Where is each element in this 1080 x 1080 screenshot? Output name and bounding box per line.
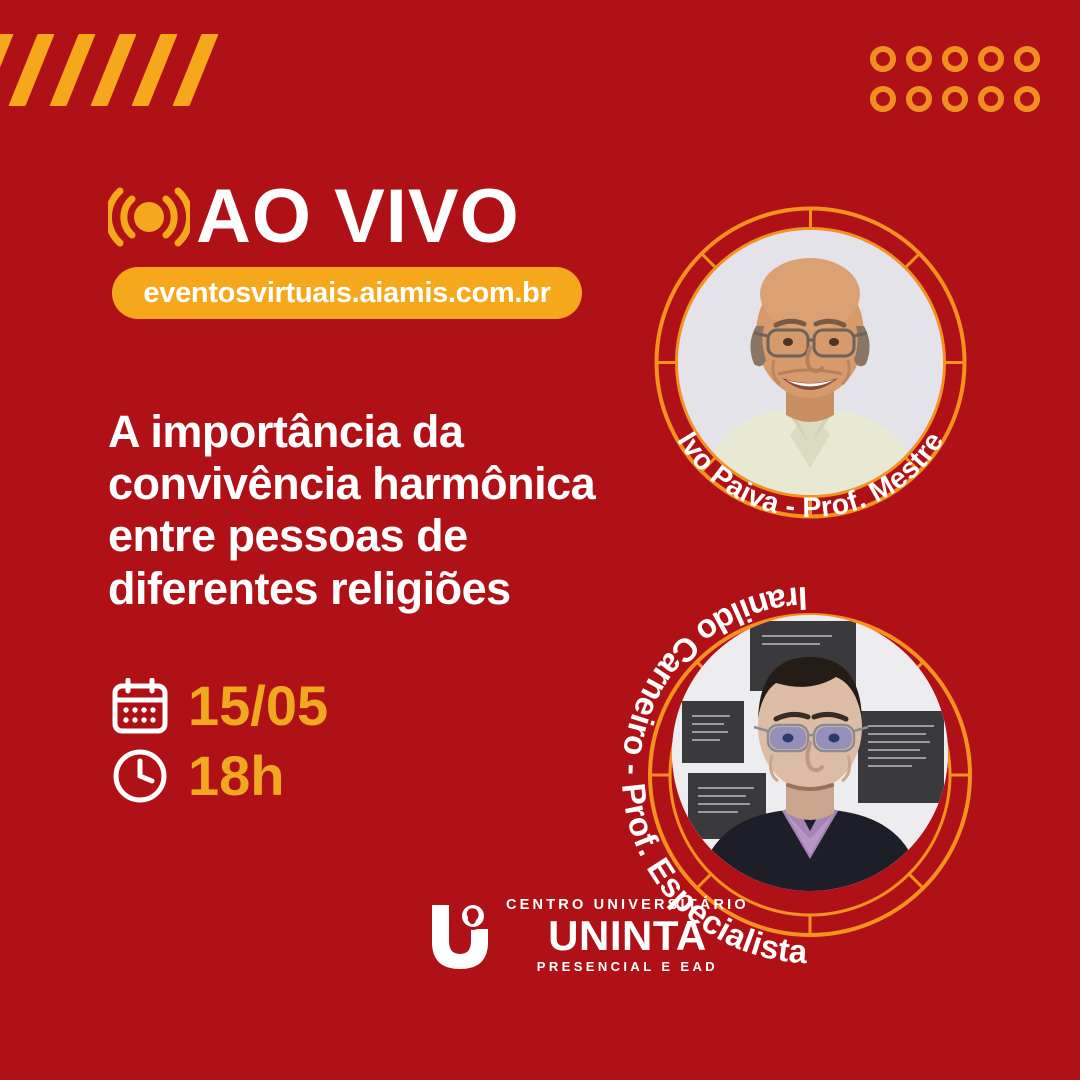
event-url-text: eventosvirtuais.aiamis.com.br	[143, 277, 550, 310]
decor-dot	[906, 46, 932, 72]
decor-dot	[978, 46, 1004, 72]
live-label: AO VIVO	[196, 179, 520, 255]
event-url-pill[interactable]: eventosvirtuais.aiamis.com.br	[112, 267, 582, 319]
broadcast-icon	[108, 178, 190, 256]
logo-top-line: CENTRO UNIVERSITÁRIO	[506, 898, 749, 913]
event-date-row: 15/05	[112, 678, 328, 734]
decor-dot	[906, 86, 932, 112]
logo-bottom-line: PRESENCIAL E EAD	[537, 960, 718, 973]
title-line-3: entre pessoas de	[108, 510, 648, 562]
decor-dot	[942, 46, 968, 72]
decor-dot	[978, 86, 1004, 112]
stripe-3	[49, 34, 95, 106]
event-time: 18h	[188, 748, 285, 804]
speaker-2-photo	[672, 615, 948, 891]
decor-dot	[870, 46, 896, 72]
speaker-1-photo	[678, 230, 943, 495]
logo-name: UNINTA	[548, 915, 707, 957]
title-line-2: convivência harmônica	[108, 458, 648, 510]
page-title: A importância da convivência harmônica e…	[108, 406, 648, 615]
stripe-6	[172, 34, 218, 106]
stripe-2	[8, 34, 54, 106]
stripe-5	[131, 34, 177, 106]
decor-dot	[1014, 46, 1040, 72]
title-line-4: diferentes religiões	[108, 563, 648, 615]
clock-icon	[112, 748, 168, 804]
calendar-icon	[112, 678, 168, 734]
dot-grid-decoration	[870, 46, 1040, 122]
event-date: 15/05	[188, 678, 328, 734]
event-details: 15/05 18h	[112, 678, 328, 804]
live-event-poster: AO VIVO eventosvirtuais.aiamis.com.br A …	[0, 0, 1080, 1080]
stripe-4	[90, 34, 136, 106]
title-line-1: A importância da	[108, 406, 648, 458]
decor-dot	[1014, 86, 1040, 112]
event-time-row: 18h	[112, 748, 328, 804]
uninta-u-mark-icon	[428, 899, 492, 971]
speaker-card-1: Ivo Paiva - Prof. Mestre	[638, 190, 983, 535]
uninta-logo-text: CENTRO UNIVERSITÁRIO UNINTA PRESENCIAL E…	[506, 898, 749, 973]
uninta-logo: CENTRO UNIVERSITÁRIO UNINTA PRESENCIAL E…	[428, 898, 749, 973]
decor-dot	[942, 86, 968, 112]
diagonal-stripes-decoration	[0, 34, 212, 104]
live-badge: AO VIVO	[108, 178, 520, 256]
decor-dot	[870, 86, 896, 112]
